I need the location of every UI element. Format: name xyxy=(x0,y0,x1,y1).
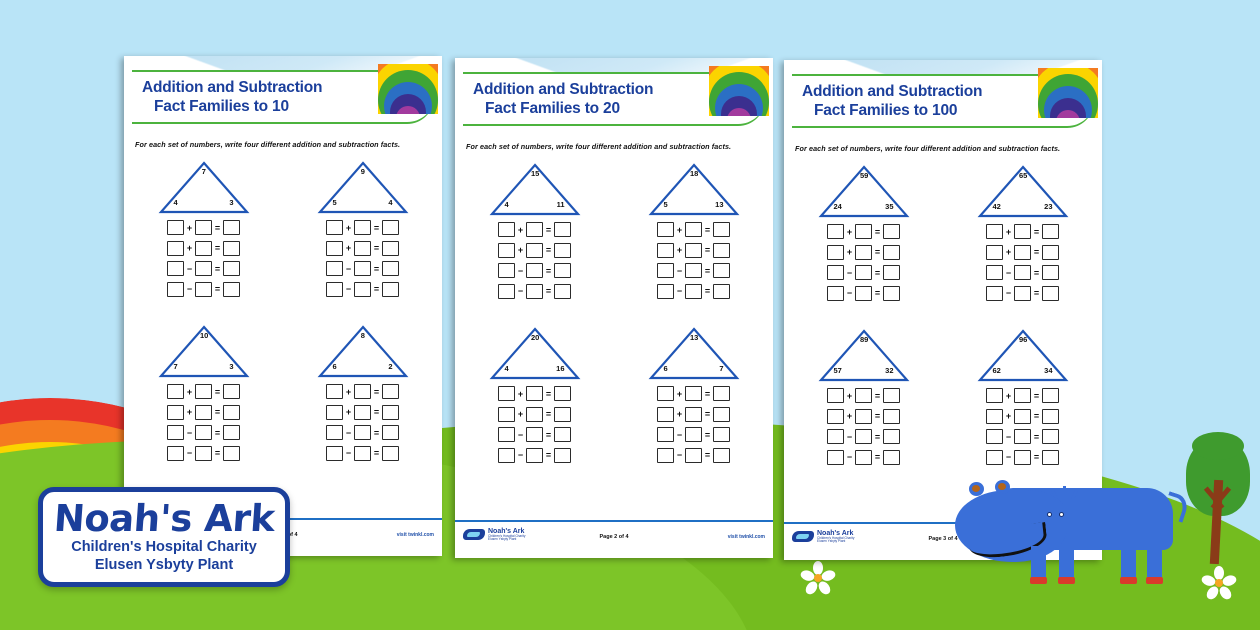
equals-icon: = xyxy=(214,284,221,294)
minus-icon: − xyxy=(846,288,853,298)
equation-row: −= xyxy=(986,429,1059,444)
minus-icon: − xyxy=(186,264,193,274)
answer-box[interactable] xyxy=(195,220,212,235)
answer-box[interactable] xyxy=(827,286,844,301)
answer-box[interactable] xyxy=(657,448,674,463)
equals-icon: = xyxy=(1033,227,1040,237)
triangle-part-right: 32 xyxy=(885,366,893,375)
answer-box[interactable] xyxy=(382,282,399,297)
answer-box[interactable] xyxy=(326,220,343,235)
equation-row: += xyxy=(827,388,900,403)
answer-box[interactable] xyxy=(326,384,343,399)
equation-row: −= xyxy=(167,261,240,276)
answer-box[interactable] xyxy=(326,405,343,420)
triangle-total: 59 xyxy=(860,171,868,180)
answer-box[interactable] xyxy=(1014,224,1031,239)
hippo-leg xyxy=(1031,546,1046,584)
answer-box[interactable] xyxy=(498,284,515,299)
answer-box[interactable] xyxy=(685,407,702,422)
answer-box[interactable] xyxy=(827,429,844,444)
answer-box[interactable] xyxy=(713,386,730,401)
triangle-part-left: 4 xyxy=(505,364,509,373)
plus-icon: + xyxy=(186,407,193,417)
triangle-part-right: 4 xyxy=(388,198,392,207)
fact-family-item: 966234+=+=−=−= xyxy=(943,328,1102,470)
hippo-ear-left xyxy=(969,482,984,496)
triangle-part-left: 42 xyxy=(993,202,1001,211)
answer-box[interactable] xyxy=(167,405,184,420)
answer-box[interactable] xyxy=(657,284,674,299)
answer-box[interactable] xyxy=(986,245,1003,260)
plus-icon: + xyxy=(345,387,352,397)
number-triangle: 895732 xyxy=(818,328,910,383)
answer-box[interactable] xyxy=(685,284,702,299)
equals-icon: = xyxy=(704,225,711,235)
answer-box[interactable] xyxy=(1042,388,1059,403)
answer-box[interactable] xyxy=(382,405,399,420)
answer-box[interactable] xyxy=(685,222,702,237)
equals-icon: = xyxy=(874,288,881,298)
answer-box[interactable] xyxy=(827,450,844,465)
triangle-total: 10 xyxy=(200,331,208,340)
answer-box[interactable] xyxy=(827,245,844,260)
equation-row: += xyxy=(657,407,730,422)
equation-row: −= xyxy=(326,425,399,440)
answer-box[interactable] xyxy=(986,265,1003,280)
equals-icon: = xyxy=(545,286,552,296)
equation-row: −= xyxy=(326,446,399,461)
answer-box[interactable] xyxy=(526,407,543,422)
answer-box[interactable] xyxy=(713,407,730,422)
equals-icon: = xyxy=(704,266,711,276)
plus-icon: + xyxy=(676,389,683,399)
equation-row: −= xyxy=(827,265,900,280)
equals-icon: = xyxy=(214,223,221,233)
fact-family-item: 18513+=+=−=−= xyxy=(614,162,773,304)
answer-box[interactable] xyxy=(1042,286,1059,301)
equals-icon: = xyxy=(1033,452,1040,462)
answer-box[interactable] xyxy=(326,261,343,276)
answer-box[interactable] xyxy=(1042,450,1059,465)
answer-box[interactable] xyxy=(1014,286,1031,301)
answer-box[interactable] xyxy=(986,409,1003,424)
answer-box[interactable] xyxy=(498,448,515,463)
answer-box[interactable] xyxy=(855,224,872,239)
worksheet-page-1[interactable]: Addition and SubtractionFact Families to… xyxy=(124,56,442,556)
answer-box[interactable] xyxy=(354,405,371,420)
equation-row: += xyxy=(167,384,240,399)
answer-box[interactable] xyxy=(713,243,730,258)
answer-box[interactable] xyxy=(554,386,571,401)
equals-icon: = xyxy=(874,227,881,237)
triangle-part-left: 62 xyxy=(993,366,1001,375)
fact-family-grid: 15411+=+=−=−=18513+=+=−=−=20416+=+=−=−=1… xyxy=(455,162,773,468)
answer-box[interactable] xyxy=(855,429,872,444)
plus-icon: + xyxy=(676,409,683,419)
minus-icon: − xyxy=(345,428,352,438)
answer-box[interactable] xyxy=(855,245,872,260)
answer-box[interactable] xyxy=(1014,388,1031,403)
equals-icon: = xyxy=(545,389,552,399)
number-triangle: 966234 xyxy=(977,328,1069,383)
answer-box[interactable] xyxy=(526,284,543,299)
triangle-part-right: 3 xyxy=(229,362,233,371)
answer-box[interactable] xyxy=(986,286,1003,301)
answer-box[interactable] xyxy=(223,425,240,440)
answer-box[interactable] xyxy=(526,448,543,463)
answer-box[interactable] xyxy=(223,282,240,297)
answer-box[interactable] xyxy=(986,388,1003,403)
minus-icon: − xyxy=(1005,432,1012,442)
equation-row: −= xyxy=(326,261,399,276)
answer-box[interactable] xyxy=(855,265,872,280)
answer-box[interactable] xyxy=(657,427,674,442)
answer-box[interactable] xyxy=(223,384,240,399)
plus-icon: + xyxy=(345,407,352,417)
equation-row: += xyxy=(827,224,900,239)
sheet-instruction: For each set of numbers, write four diff… xyxy=(466,142,765,151)
answer-box[interactable] xyxy=(986,450,1003,465)
equation-row: −= xyxy=(167,282,240,297)
answer-box[interactable] xyxy=(498,222,515,237)
equation-row: −= xyxy=(657,448,730,463)
answer-box[interactable] xyxy=(354,425,371,440)
minus-icon: − xyxy=(345,284,352,294)
answer-box[interactable] xyxy=(657,263,674,278)
equals-icon: = xyxy=(545,245,552,255)
answer-box[interactable] xyxy=(685,263,702,278)
answer-box[interactable] xyxy=(657,222,674,237)
answer-box[interactable] xyxy=(167,425,184,440)
number-triangle: 954 xyxy=(317,160,409,215)
triangle-part-left: 57 xyxy=(834,366,842,375)
answer-box[interactable] xyxy=(167,282,184,297)
equation-row: −= xyxy=(498,427,571,442)
equals-icon: = xyxy=(214,264,221,274)
answer-box[interactable] xyxy=(685,386,702,401)
equals-icon: = xyxy=(545,225,552,235)
answer-box[interactable] xyxy=(657,386,674,401)
equals-icon: = xyxy=(874,247,881,257)
equals-icon: = xyxy=(373,264,380,274)
answer-box[interactable] xyxy=(195,241,212,256)
answer-box[interactable] xyxy=(326,446,343,461)
minus-icon: − xyxy=(846,452,853,462)
hippo-ear-right xyxy=(995,480,1010,494)
sheet-instruction: For each set of numbers, write four diff… xyxy=(795,144,1094,153)
answer-box[interactable] xyxy=(685,243,702,258)
answer-box[interactable] xyxy=(382,261,399,276)
answer-box[interactable] xyxy=(986,429,1003,444)
answer-box[interactable] xyxy=(354,384,371,399)
equation-row: += xyxy=(498,407,571,422)
answer-box[interactable] xyxy=(526,263,543,278)
number-triangle: 743 xyxy=(158,160,250,215)
plus-icon: + xyxy=(186,387,193,397)
answer-box[interactable] xyxy=(713,222,730,237)
equation-row: −= xyxy=(498,448,571,463)
answer-box[interactable] xyxy=(554,407,571,422)
equals-icon: = xyxy=(373,407,380,417)
answer-box[interactable] xyxy=(526,243,543,258)
plus-icon: + xyxy=(517,389,524,399)
answer-box[interactable] xyxy=(195,384,212,399)
ark-boat-icon xyxy=(463,529,485,540)
equation-row: −= xyxy=(498,263,571,278)
fact-family-item: 862+=+=−=−= xyxy=(283,324,442,466)
charity-subtitle-en: Children's Hospital Charity xyxy=(71,538,257,556)
answer-box[interactable] xyxy=(883,265,900,280)
equation-row: += xyxy=(986,409,1059,424)
answer-box[interactable] xyxy=(1042,265,1059,280)
equals-icon: = xyxy=(545,450,552,460)
answer-box[interactable] xyxy=(223,261,240,276)
equals-icon: = xyxy=(874,432,881,442)
answer-box[interactable] xyxy=(223,241,240,256)
answer-box[interactable] xyxy=(354,261,371,276)
fact-family-grid: 592435+=+=−=−=654223+=+=−=−=895732+=+=−=… xyxy=(784,164,1102,470)
answer-box[interactable] xyxy=(326,241,343,256)
answer-box[interactable] xyxy=(827,388,844,403)
equation-row: += xyxy=(827,409,900,424)
equation-row: −= xyxy=(986,265,1059,280)
equation-row: += xyxy=(167,405,240,420)
equation-row: −= xyxy=(827,286,900,301)
answer-box[interactable] xyxy=(354,446,371,461)
answer-box[interactable] xyxy=(713,448,730,463)
answer-box[interactable] xyxy=(354,282,371,297)
equation-row: −= xyxy=(827,429,900,444)
equals-icon: = xyxy=(704,409,711,419)
equals-icon: = xyxy=(373,448,380,458)
equation-row: −= xyxy=(498,284,571,299)
answer-box[interactable] xyxy=(526,222,543,237)
answer-box[interactable] xyxy=(354,241,371,256)
worksheet-page-2[interactable]: Addition and SubtractionFact Families to… xyxy=(455,58,773,558)
minus-icon: − xyxy=(676,450,683,460)
answer-box[interactable] xyxy=(883,224,900,239)
answer-box[interactable] xyxy=(326,425,343,440)
answer-box[interactable] xyxy=(498,263,515,278)
answer-box[interactable] xyxy=(883,429,900,444)
answer-box[interactable] xyxy=(855,450,872,465)
answer-box[interactable] xyxy=(382,220,399,235)
answer-box[interactable] xyxy=(883,286,900,301)
answer-box[interactable] xyxy=(1014,429,1031,444)
equals-icon: = xyxy=(874,391,881,401)
fact-family-item: 20416+=+=−=−= xyxy=(455,326,614,468)
answer-box[interactable] xyxy=(554,284,571,299)
equation-row: += xyxy=(657,222,730,237)
equals-icon: = xyxy=(545,266,552,276)
equals-icon: = xyxy=(1033,268,1040,278)
footer-page-number: Page 2 of 4 xyxy=(599,534,628,540)
minus-icon: − xyxy=(676,266,683,276)
plus-icon: + xyxy=(186,223,193,233)
answer-box[interactable] xyxy=(713,284,730,299)
triangle-part-right: 23 xyxy=(1044,202,1052,211)
triangle-part-right: 34 xyxy=(1044,366,1052,375)
answer-box[interactable] xyxy=(498,407,515,422)
answer-box[interactable] xyxy=(855,409,872,424)
answer-box[interactable] xyxy=(1014,409,1031,424)
answer-box[interactable] xyxy=(855,388,872,403)
answer-box[interactable] xyxy=(167,241,184,256)
answer-box[interactable] xyxy=(382,241,399,256)
equals-icon: = xyxy=(214,243,221,253)
answer-box[interactable] xyxy=(354,220,371,235)
answer-box[interactable] xyxy=(498,386,515,401)
answer-box[interactable] xyxy=(827,224,844,239)
equals-icon: = xyxy=(373,243,380,253)
minus-icon: − xyxy=(186,284,193,294)
minus-icon: − xyxy=(846,432,853,442)
footer-logo-text: Noah's ArkChildren's Hospital CharityElu… xyxy=(488,528,525,541)
answer-box[interactable] xyxy=(713,427,730,442)
footer-logo-text: Noah's ArkChildren's Hospital CharityElu… xyxy=(817,530,854,543)
fact-family-item: 15411+=+=−=−= xyxy=(455,162,614,304)
answer-box[interactable] xyxy=(167,261,184,276)
answer-box[interactable] xyxy=(195,405,212,420)
fact-family-item: 954+=+=−=−= xyxy=(283,160,442,302)
answer-box[interactable] xyxy=(382,384,399,399)
charity-name: Noah's Ark xyxy=(52,500,275,538)
answer-box[interactable] xyxy=(526,427,543,442)
answer-box[interactable] xyxy=(1014,245,1031,260)
answer-box[interactable] xyxy=(554,263,571,278)
triangle-part-right: 3 xyxy=(229,198,233,207)
number-triangle: 15411 xyxy=(489,162,581,217)
answer-box[interactable] xyxy=(657,407,674,422)
equals-icon: = xyxy=(704,389,711,399)
charity-logo-card: Noah's Ark Children's Hospital Charity E… xyxy=(38,487,290,587)
equals-icon: = xyxy=(704,245,711,255)
answer-box[interactable] xyxy=(883,450,900,465)
triangle-total: 65 xyxy=(1019,171,1027,180)
fact-family-grid: 743+=+=−=−=954+=+=−=−=1073+=+=−=−=862+=+… xyxy=(124,160,442,466)
answer-box[interactable] xyxy=(685,448,702,463)
triangle-part-left: 7 xyxy=(174,362,178,371)
answer-box[interactable] xyxy=(195,261,212,276)
plus-icon: + xyxy=(1005,227,1012,237)
equation-row: += xyxy=(326,241,399,256)
answer-box[interactable] xyxy=(498,243,515,258)
minus-icon: − xyxy=(1005,452,1012,462)
footer-brand: visit twinkl.com xyxy=(728,534,765,540)
equation-row: −= xyxy=(986,286,1059,301)
footer-logo-sub-cy: Elusen Ysbyty Plant xyxy=(817,540,854,543)
answer-box[interactable] xyxy=(1042,409,1059,424)
answer-box[interactable] xyxy=(1042,245,1059,260)
fact-family-item: 592435+=+=−=−= xyxy=(784,164,943,306)
equation-row: −= xyxy=(827,450,900,465)
answer-box[interactable] xyxy=(827,265,844,280)
answer-box[interactable] xyxy=(883,388,900,403)
answer-box[interactable] xyxy=(326,282,343,297)
hippo-leg xyxy=(1121,546,1136,584)
triangle-total: 7 xyxy=(202,167,206,176)
footer-charity-logo: Noah's ArkChildren's Hospital CharityElu… xyxy=(792,530,854,543)
answer-box[interactable] xyxy=(195,446,212,461)
hippo-eye-right xyxy=(1059,512,1064,517)
answer-box[interactable] xyxy=(554,427,571,442)
footer-page-number: Page 3 of 4 xyxy=(928,536,957,542)
triangle-part-right: 11 xyxy=(557,200,565,209)
equation-row: += xyxy=(167,220,240,235)
equals-icon: = xyxy=(373,387,380,397)
footer-brand: visit twinkl.com xyxy=(397,532,434,538)
triangle-total: 8 xyxy=(361,331,365,340)
answer-box[interactable] xyxy=(382,425,399,440)
equation-row: += xyxy=(167,241,240,256)
answer-box[interactable] xyxy=(526,386,543,401)
answer-box[interactable] xyxy=(498,427,515,442)
answer-box[interactable] xyxy=(1014,450,1031,465)
equation-row: −= xyxy=(326,282,399,297)
answer-box[interactable] xyxy=(827,409,844,424)
number-triangle: 1367 xyxy=(648,326,740,381)
plus-icon: + xyxy=(517,409,524,419)
answer-box[interactable] xyxy=(986,224,1003,239)
equals-icon: = xyxy=(1033,247,1040,257)
answer-box[interactable] xyxy=(223,446,240,461)
answer-box[interactable] xyxy=(713,263,730,278)
equation-row: += xyxy=(498,386,571,401)
equals-icon: = xyxy=(545,409,552,419)
answer-box[interactable] xyxy=(883,245,900,260)
triangle-part-left: 6 xyxy=(333,362,337,371)
answer-box[interactable] xyxy=(883,409,900,424)
plus-icon: + xyxy=(676,225,683,235)
answer-box[interactable] xyxy=(223,405,240,420)
answer-box[interactable] xyxy=(554,448,571,463)
triangle-part-left: 5 xyxy=(333,198,337,207)
answer-box[interactable] xyxy=(1014,265,1031,280)
equals-icon: = xyxy=(545,430,552,440)
equation-row: += xyxy=(657,243,730,258)
equation-row: += xyxy=(498,243,571,258)
answer-box[interactable] xyxy=(382,446,399,461)
answer-box[interactable] xyxy=(167,446,184,461)
answer-box[interactable] xyxy=(554,222,571,237)
answer-box[interactable] xyxy=(855,286,872,301)
equals-icon: = xyxy=(373,428,380,438)
equals-icon: = xyxy=(214,428,221,438)
answer-box[interactable] xyxy=(223,220,240,235)
equation-row: −= xyxy=(167,425,240,440)
number-triangle: 20416 xyxy=(489,326,581,381)
minus-icon: − xyxy=(186,428,193,438)
equation-row: += xyxy=(326,405,399,420)
answer-box[interactable] xyxy=(1042,224,1059,239)
answer-box[interactable] xyxy=(554,243,571,258)
triangle-part-right: 13 xyxy=(715,200,723,209)
sheet-instruction: For each set of numbers, write four diff… xyxy=(135,140,434,149)
hippo-leg xyxy=(1059,546,1074,584)
equation-row: += xyxy=(326,384,399,399)
hippo-leg xyxy=(1147,546,1162,584)
answer-box[interactable] xyxy=(1042,429,1059,444)
plus-icon: + xyxy=(345,223,352,233)
answer-box[interactable] xyxy=(657,243,674,258)
sheet-footer: Noah's ArkChildren's Hospital CharityElu… xyxy=(455,520,773,558)
answer-box[interactable] xyxy=(167,220,184,235)
answer-box[interactable] xyxy=(195,425,212,440)
number-triangle: 1073 xyxy=(158,324,250,379)
answer-box[interactable] xyxy=(167,384,184,399)
answer-box[interactable] xyxy=(685,427,702,442)
answer-box[interactable] xyxy=(195,282,212,297)
